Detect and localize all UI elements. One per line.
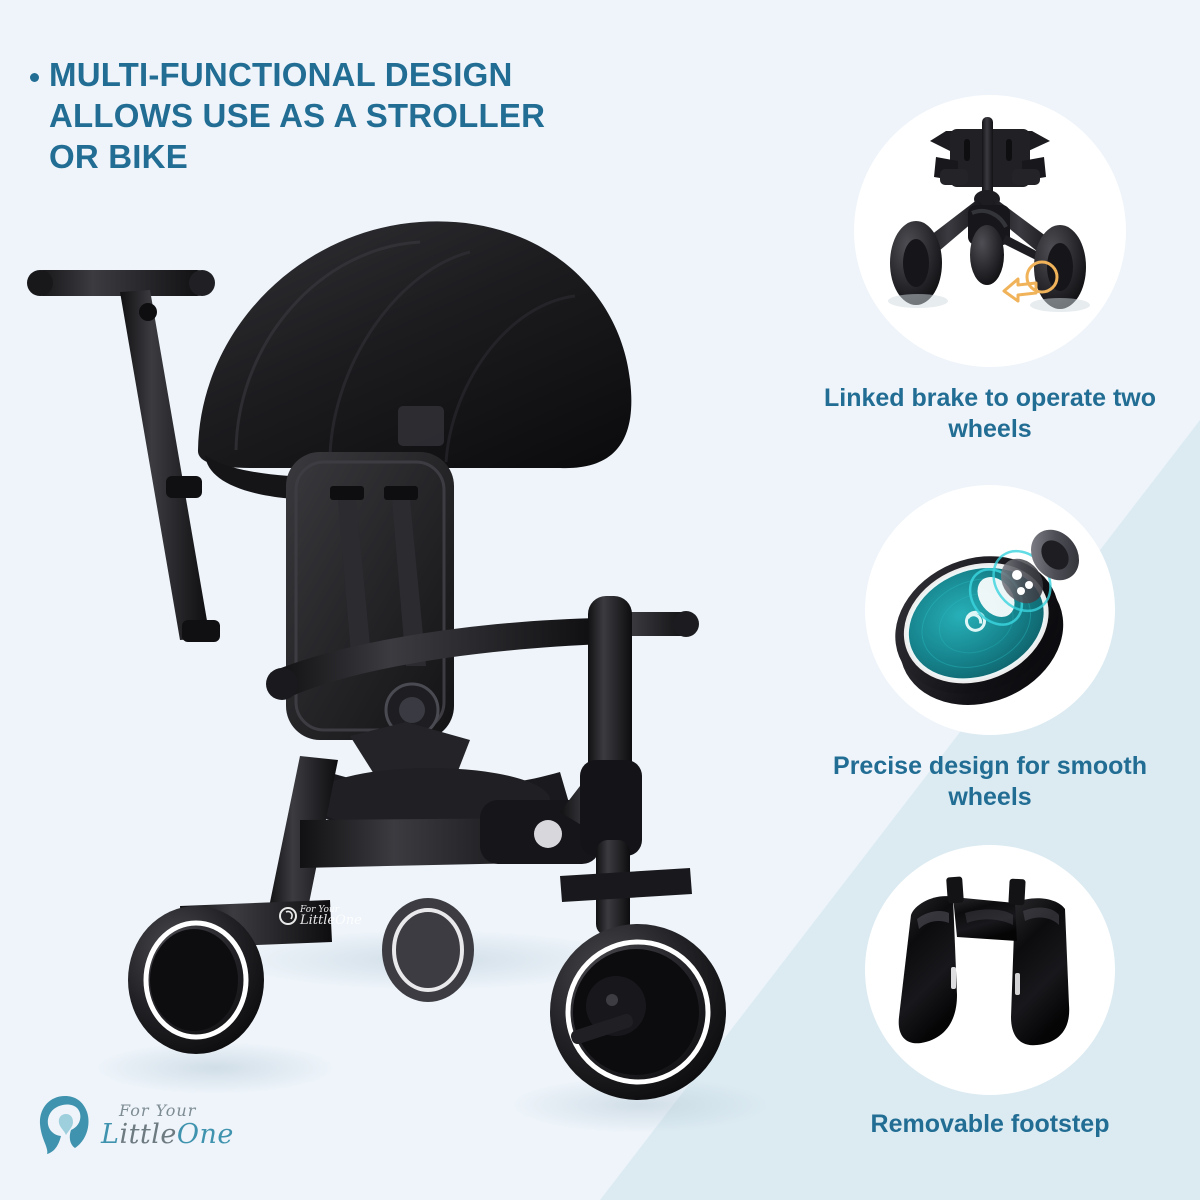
brand-logo: For Your LittleOne bbox=[35, 1085, 235, 1165]
rear-wheel bbox=[128, 906, 264, 1054]
footstep-image bbox=[865, 845, 1115, 1095]
teal-wheel-image bbox=[865, 485, 1115, 735]
logo-line-2: LittleOne bbox=[101, 1121, 234, 1148]
product-image-trike-stroller: For Your LittleOne bbox=[0, 200, 800, 1150]
headline-text: MULTI-FUNCTIONAL DESIGN ALLOWS USE AS A … bbox=[49, 55, 590, 178]
logo-line-2-ittle: ittle bbox=[119, 1119, 176, 1150]
poster-canvas: MULTI-FUNCTIONAL DESIGN ALLOWS USE AS A … bbox=[0, 0, 1200, 1200]
feature-3-circle bbox=[865, 845, 1115, 1095]
feature-precise-wheels: Precise design for smooth wheels bbox=[790, 485, 1190, 812]
headline-block: MULTI-FUNCTIONAL DESIGN ALLOWS USE AS A … bbox=[30, 55, 590, 178]
feature-2-circle bbox=[865, 485, 1115, 735]
feature-removable-footstep: Removable footstep bbox=[790, 845, 1190, 1140]
logo-wordmark: For Your LittleOne bbox=[101, 1103, 234, 1148]
front-fork bbox=[560, 596, 692, 936]
bullet-dot-icon bbox=[30, 73, 39, 82]
feature-linked-brake: Linked brake to operate two wheels bbox=[790, 95, 1190, 444]
feature-3-caption: Removable footstep bbox=[810, 1109, 1170, 1140]
front-wheel bbox=[550, 924, 726, 1100]
logo-line-2-one: One bbox=[177, 1119, 234, 1150]
feature-2-caption: Precise design for smooth wheels bbox=[810, 751, 1170, 812]
logo-line-1: For Your bbox=[119, 1103, 234, 1119]
svg-text:LittleOne: LittleOne bbox=[299, 913, 362, 928]
feature-1-circle bbox=[854, 95, 1126, 367]
brake-chassis-image bbox=[854, 95, 1126, 367]
mid-wheel bbox=[382, 898, 474, 1002]
logo-line-2-accent-l: L bbox=[101, 1119, 119, 1150]
feature-1-caption: Linked brake to operate two wheels bbox=[810, 383, 1170, 444]
push-handle bbox=[27, 270, 220, 642]
mother-and-child-icon bbox=[35, 1092, 93, 1158]
